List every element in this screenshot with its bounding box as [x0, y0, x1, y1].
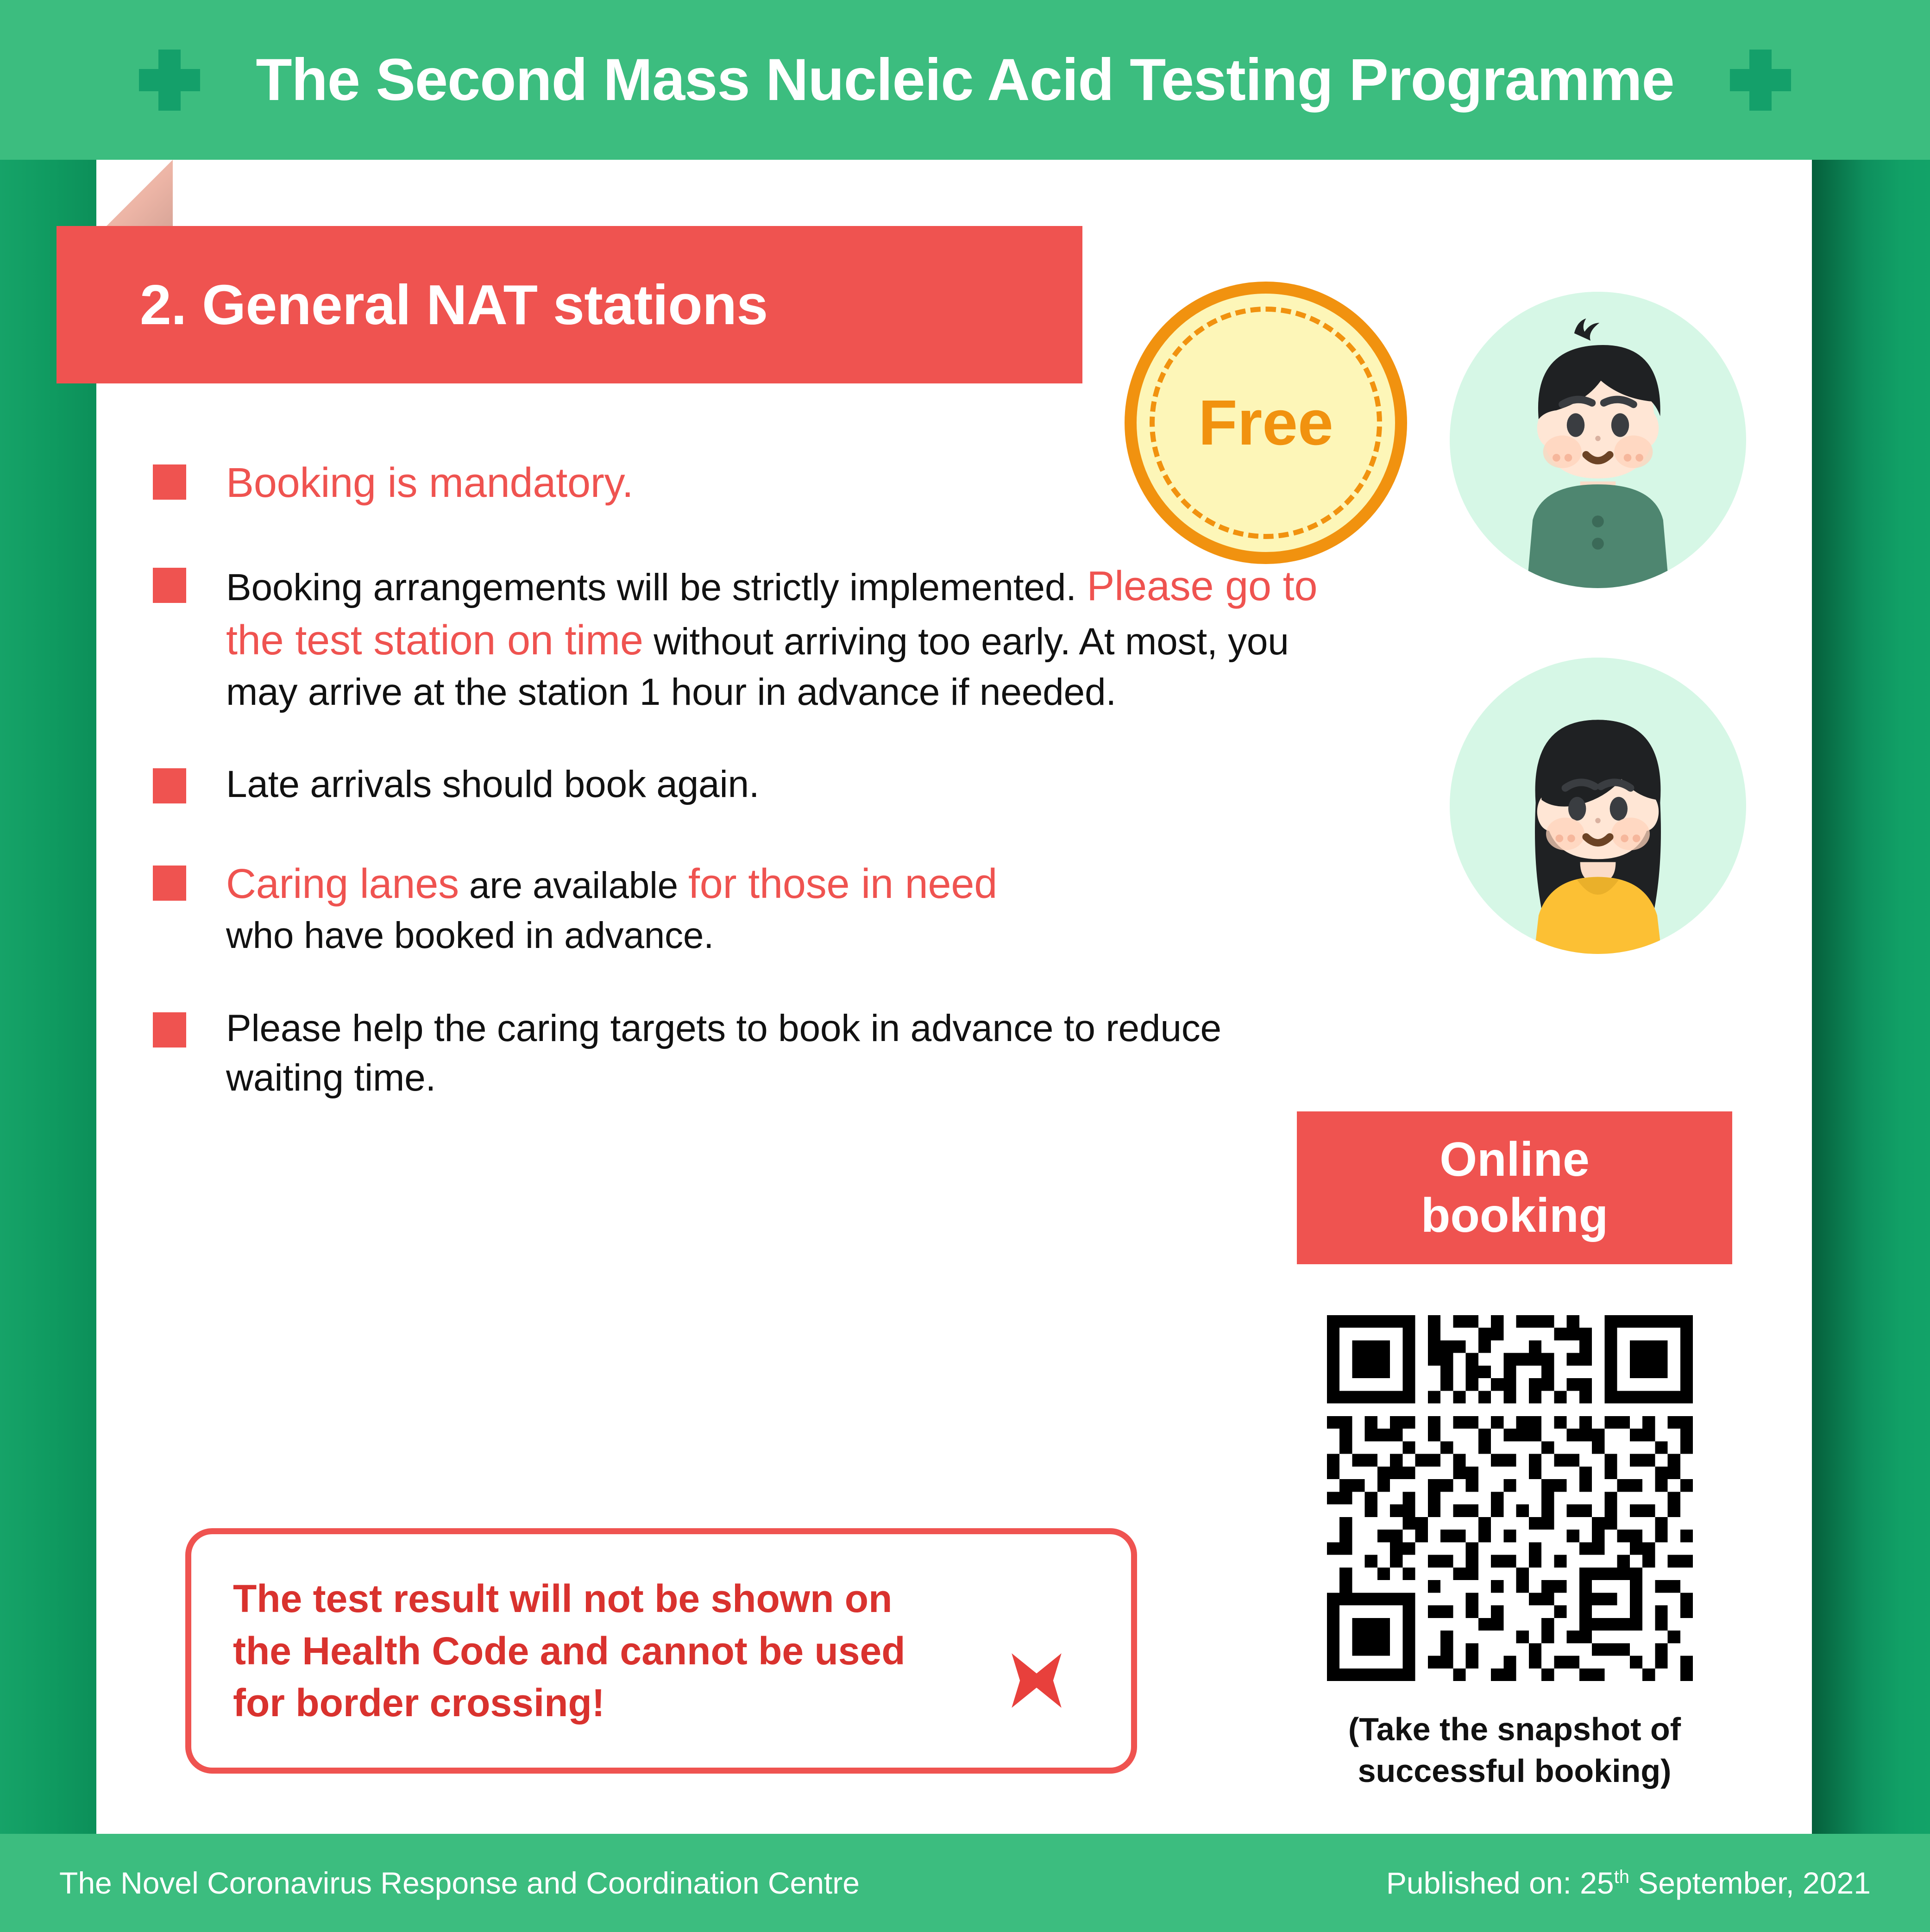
footer-date-ordinal: th: [1614, 1867, 1629, 1887]
section-banner-label: 2. General NAT stations: [140, 272, 768, 337]
poster-root: The Second Mass Nucleic Acid Testing Pro…: [0, 0, 1930, 1932]
warning-callout: The test result will not be shown on the…: [185, 1528, 1137, 1774]
footer-date-suffix: September, 2021: [1629, 1866, 1871, 1900]
bullet-text: Please help the caring targets to book i…: [226, 1004, 1240, 1103]
qr-code-icon[interactable]: [1325, 1315, 1695, 1681]
medical-plus-icon-left: [139, 50, 200, 111]
bullet-square-icon: [153, 568, 186, 603]
page-title: The Second Mass Nucleic Acid Testing Pro…: [256, 46, 1674, 114]
footer-published-date: Published on: 25th September, 2021: [1386, 1865, 1871, 1901]
left-green-rail: [0, 160, 97, 1834]
online-booking-label-line1: Online: [1421, 1132, 1608, 1188]
bullet-square-icon: [153, 464, 186, 500]
poster-footer: The Novel Coronavirus Response and Coord…: [0, 1834, 1930, 1932]
avatar: [1450, 292, 1746, 588]
qr-caption-line1: (Take the snapshot of: [1278, 1709, 1751, 1750]
bullet-square-icon: [153, 768, 186, 803]
list-item: Late arrivals should book again.: [153, 760, 1339, 809]
qr-code[interactable]: [1325, 1315, 1695, 1681]
bullet-segment: Booking is mandatory.: [226, 460, 634, 506]
free-badge-label: Free: [1198, 386, 1333, 460]
footer-organisation: The Novel Coronavirus Response and Coord…: [59, 1865, 860, 1901]
x-mark-icon: [1007, 1651, 1066, 1710]
bullet-text: Booking arrangements will be strictly im…: [226, 559, 1339, 717]
bullet-text: Booking is mandatory.: [226, 456, 634, 510]
list-item: Caring lanes are available for those in …: [153, 857, 1339, 960]
bullet-text: Caring lanes are available for those in …: [226, 857, 1041, 960]
person-male-avatar-icon: [1450, 292, 1746, 588]
bullet-segment: Booking arrangements will be strictly im…: [226, 566, 1087, 608]
free-badge: Free: [1125, 282, 1407, 564]
warning-text: The test result will not be shown on the…: [233, 1573, 956, 1729]
medical-plus-icon-right: [1730, 50, 1791, 111]
qr-caption: (Take the snapshot of successful booking…: [1278, 1709, 1751, 1792]
qr-caption-line2: successful booking): [1278, 1750, 1751, 1792]
online-booking-label-line2: booking: [1421, 1188, 1608, 1244]
footer-date-prefix: Published on: 25: [1386, 1866, 1614, 1900]
bullet-segment: are available: [459, 865, 688, 906]
right-green-rail: [1812, 160, 1930, 1834]
list-item: Please help the caring targets to book i…: [153, 1004, 1339, 1103]
bullet-segment: Late arrivals should book again.: [226, 763, 759, 805]
bullet-square-icon: [153, 866, 186, 901]
avatar: [1450, 658, 1746, 954]
bullet-list: Booking is mandatory. Booking arrangemen…: [153, 456, 1339, 1103]
bullet-segment: who have booked in advance.: [226, 915, 714, 956]
bullet-segment: Please help the caring targets to book i…: [226, 1007, 1221, 1099]
poster-header: The Second Mass Nucleic Acid Testing Pro…: [0, 0, 1930, 160]
person-female-avatar-icon: [1450, 658, 1746, 954]
bullet-segment-emphasis: for those in need: [688, 861, 997, 907]
bullet-segment-emphasis: Caring lanes: [226, 861, 459, 907]
section-banner: 2. General NAT stations: [57, 226, 1082, 383]
online-booking-banner: Online booking: [1297, 1111, 1732, 1264]
list-item: Booking arrangements will be strictly im…: [153, 559, 1339, 717]
bullet-text: Late arrivals should book again.: [226, 760, 759, 809]
bullet-square-icon: [153, 1012, 186, 1048]
